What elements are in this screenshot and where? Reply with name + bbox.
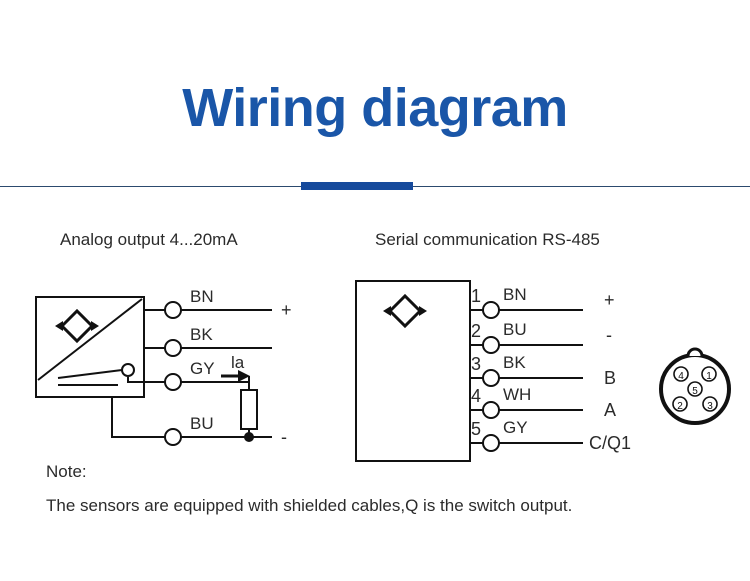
wire-row-analog-bu: BU - <box>144 414 287 447</box>
wire-label-bk: BK <box>190 325 213 344</box>
terminal-node-pin4 <box>483 402 499 418</box>
signal-label-plus: + <box>281 300 292 320</box>
connector-pin-5-label: 5 <box>692 386 698 397</box>
wire-row-analog-gy: GY la <box>144 353 250 390</box>
terminal-node-gy <box>165 374 181 390</box>
wire-label-bn: BN <box>190 287 214 306</box>
m12-connector-pinout: 4 1 5 2 3 <box>661 349 729 423</box>
terminal-node-pin2 <box>483 337 499 353</box>
wire-label-serial-gy: GY <box>503 418 528 437</box>
diagram-serial-rs485: Serial communication RS-485 1 BN + <box>356 230 631 461</box>
note-title: Note: <box>46 458 706 486</box>
wire-label-bu: BU <box>190 414 214 433</box>
terminal-node-pin1 <box>483 302 499 318</box>
terminal-node-pin5 <box>483 435 499 451</box>
wire-label-gy: GY <box>190 359 215 378</box>
terminal-node-pin3 <box>483 370 499 386</box>
wire-row-analog-bn: BN + <box>144 287 292 320</box>
connector-pin-1-label: 1 <box>706 371 712 382</box>
pin-number-1: 1 <box>471 286 481 306</box>
connector-pin-4-label: 4 <box>678 371 684 382</box>
wire-row-serial-pin3: 3 BK B <box>470 353 616 388</box>
signal-label-serial-a: A <box>604 400 616 420</box>
pin-number-2: 2 <box>471 321 481 341</box>
wiring-diagram-page: Wiring diagram Analog output 4...20mA <box>0 0 750 581</box>
connector-keyway-notch <box>688 349 702 356</box>
signal-label-serial-cq1: C/Q1 <box>589 433 631 453</box>
junction-dot-bu <box>244 432 254 442</box>
signal-label-serial-minus: - <box>606 325 612 345</box>
wire-row-serial-pin1: 1 BN + <box>470 285 615 318</box>
connector-pin-3-label: 3 <box>707 401 713 412</box>
switch-pivot-node <box>122 364 134 376</box>
connector-pin-2: 2 <box>673 397 687 412</box>
wire-label-serial-bn: BN <box>503 285 527 304</box>
wire-row-serial-pin4: 4 WH A <box>470 385 616 420</box>
pin-number-3: 3 <box>471 354 481 374</box>
connector-pin-4: 4 <box>674 367 688 382</box>
pin-number-5: 5 <box>471 419 481 439</box>
connector-pin-5: 5 <box>688 382 702 397</box>
signal-label-minus: - <box>281 427 287 447</box>
wire-row-serial-pin2: 2 BU - <box>470 320 612 353</box>
wire-label-serial-wh: WH <box>503 385 531 404</box>
signal-label-serial-plus: + <box>604 290 615 310</box>
sensor-to-bu-trace <box>112 397 144 437</box>
connector-pin-3: 3 <box>703 397 717 412</box>
pin-number-4: 4 <box>471 386 481 406</box>
note-body: The sensors are equipped with shielded c… <box>46 492 706 520</box>
connector-pin-1: 1 <box>702 367 716 382</box>
diagram-caption-serial: Serial communication RS-485 <box>375 230 600 249</box>
note-block: Note: The sensors are equipped with shie… <box>46 458 706 520</box>
terminal-node-bn <box>165 302 181 318</box>
terminal-node-bu <box>165 429 181 445</box>
diagram-caption-analog: Analog output 4...20mA <box>60 230 238 249</box>
wire-row-analog-bk: BK <box>144 325 272 356</box>
current-label-ia: la <box>231 353 245 372</box>
load-resistor-analog <box>241 376 257 437</box>
diagram-analog-output: Analog output 4...20mA <box>36 230 292 447</box>
wire-label-serial-bu: BU <box>503 320 527 339</box>
terminal-node-bk <box>165 340 181 356</box>
wire-row-serial-pin5: 5 GY C/Q1 <box>470 418 631 453</box>
signal-label-serial-b: B <box>604 368 616 388</box>
connector-pin-2-label: 2 <box>677 401 683 412</box>
wire-label-serial-bk: BK <box>503 353 526 372</box>
